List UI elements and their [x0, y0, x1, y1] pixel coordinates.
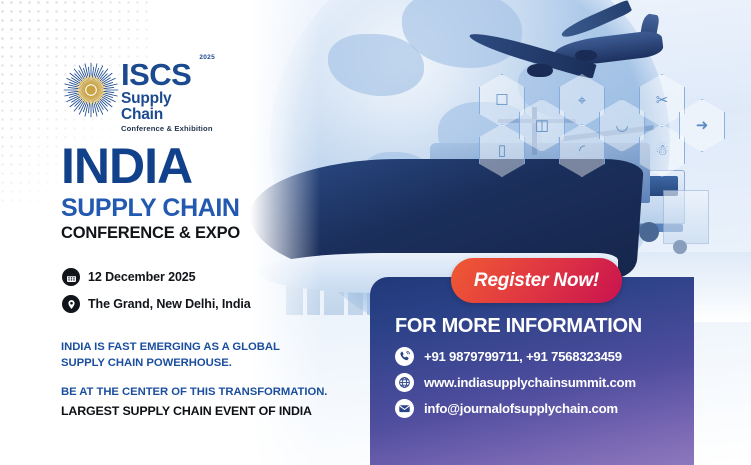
title-line-india: INDIA	[61, 143, 240, 189]
event-meta: 12 December 2025 The Grand, New Delhi, I…	[62, 268, 251, 322]
envelope-icon	[395, 399, 414, 418]
logo-subtitle: Supply Chain	[121, 91, 213, 124]
contact-website-value: www.indiasupplychainsummit.com	[424, 375, 636, 390]
iscs-logo: ISCS 2025 Supply Chain Conference & Exhi…	[63, 60, 208, 122]
contact-row-phone[interactable]: +91 9879799711, +91 7568323459	[395, 347, 622, 366]
event-date-row: 12 December 2025	[62, 268, 251, 286]
logo-year: 2025	[199, 54, 215, 61]
wrench-icon: ✂	[639, 74, 685, 127]
pitch-line-2: SUPPLY CHAIN POWERHOUSE.	[61, 356, 361, 372]
contact-row-website[interactable]: www.indiasupplychainsummit.com	[395, 373, 636, 392]
event-venue-label: The Grand, New Delhi, India	[88, 297, 251, 311]
contact-phone-value: +91 9879799711, +91 7568323459	[424, 349, 622, 364]
event-venue-row: The Grand, New Delhi, India	[62, 295, 251, 313]
pitch-line-highlight: LARGEST SUPPLY CHAIN EVENT OF INDIA	[61, 403, 361, 419]
laptop-icon: ▯	[479, 124, 525, 177]
arrow-icon: ➜	[679, 99, 725, 152]
phone-icon	[395, 347, 414, 366]
tech-hexagon-overlay: ☐ ▯ ◫ ⌖ ◜ ◡ ☃ ✂ ➜	[465, 60, 735, 190]
people-icon: ☃	[639, 124, 685, 177]
contact-row-email[interactable]: info@journalofsupplychain.com	[395, 399, 618, 418]
globe-icon	[395, 373, 414, 392]
information-heading: FOR MORE INFORMATION	[395, 315, 642, 338]
information-panel: FOR MORE INFORMATION +91 9879799711, +91…	[370, 277, 694, 465]
pitch-line-1: INDIA IS FAST EMERGING AS A GLOBAL	[61, 340, 361, 356]
contact-email-value: info@journalofsupplychain.com	[424, 401, 618, 416]
pitch-line-3: BE AT THE CENTER OF THIS TRANSFORMATION.	[61, 385, 361, 401]
robot-arm-icon: ◜	[559, 124, 605, 177]
title-line-conference: CONFERENCE & EXPO	[61, 224, 240, 243]
map-pin-icon	[62, 295, 80, 313]
logo-acronym: ISCS	[121, 60, 213, 90]
logo-tagline: Conference & Exhibition	[121, 124, 213, 133]
event-title: INDIA SUPPLY CHAIN CONFERENCE & EXPO	[61, 143, 240, 243]
sunburst-icon	[63, 62, 119, 118]
signal-icon: ◡	[599, 99, 645, 152]
register-now-button[interactable]: Register Now!	[451, 258, 622, 303]
pitch-copy: INDIA IS FAST EMERGING AS A GLOBAL SUPPL…	[61, 340, 361, 419]
box-icon: ◫	[519, 99, 565, 152]
chat-bubble-icon: ☐	[479, 74, 525, 127]
wifi-icon: ⌖	[559, 74, 605, 127]
calendar-icon	[62, 268, 80, 286]
event-date-label: 12 December 2025	[88, 270, 196, 284]
event-banner: ☐ ▯ ◫ ⌖ ◜ ◡ ☃ ✂ ➜ ISCS 2025 Suppl	[0, 0, 751, 465]
title-line-supply-chain: SUPPLY CHAIN	[61, 195, 240, 221]
